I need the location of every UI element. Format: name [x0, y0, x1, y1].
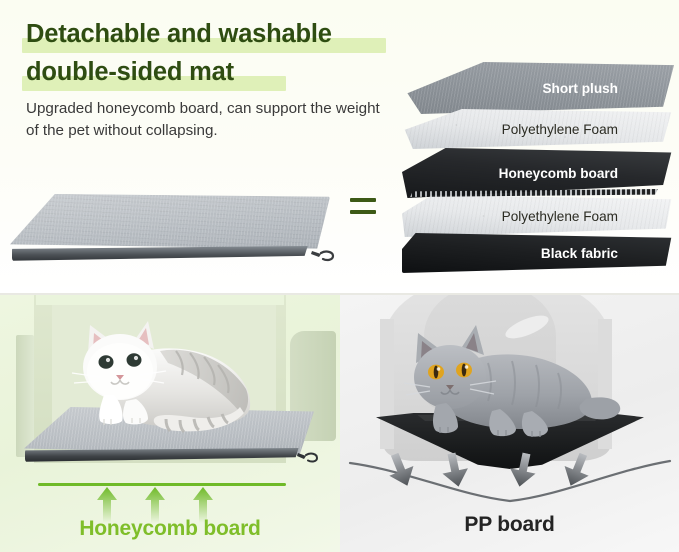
- layer-label: Honeycomb board: [499, 166, 674, 181]
- equals-bar-top: [350, 198, 376, 202]
- headline-line-2: double-sided mat: [26, 60, 234, 86]
- product-infographic: Detachable and washable double-sided mat…: [0, 0, 679, 552]
- panel-honeycomb-board: Honeycomb board: [0, 295, 340, 552]
- cat-on-honeycomb-mat: [56, 315, 286, 445]
- honeycomb-board-label: Honeycomb board: [0, 517, 340, 541]
- zipper-pull-icon: [296, 447, 320, 465]
- zipper-pull-icon: [310, 244, 336, 264]
- crate-top-edge: [36, 295, 284, 305]
- layer-label: Short plush: [542, 81, 674, 96]
- mat-edge: [25, 448, 307, 463]
- layer-polyethylene-foam-bottom: Polyethylene Foam: [402, 195, 674, 237]
- top-section: Detachable and washable double-sided mat…: [0, 0, 679, 293]
- layer-short-plush: Short plush: [402, 62, 674, 114]
- layer-label: Black fabric: [541, 246, 674, 261]
- equals-bar-bottom: [350, 210, 376, 214]
- layer-label: Polyethylene Foam: [502, 209, 674, 224]
- layer-polyethylene-foam-top: Polyethylene Foam: [402, 109, 674, 149]
- pp-board-label: PP board: [340, 513, 679, 537]
- cat-on-pp-board: [396, 319, 624, 447]
- mat-product-photo: [10, 194, 330, 272]
- layer-honeycomb-board: Honeycomb board: [402, 148, 674, 198]
- panel-pp-board: PP board: [340, 295, 679, 552]
- headline-line-1: Detachable and washable: [26, 22, 332, 48]
- material-layer-stack: Short plush Polyethylene Foam Honeycomb …: [402, 62, 674, 270]
- layer-label: Polyethylene Foam: [502, 122, 674, 137]
- layer-black-fabric: Black fabric: [402, 233, 674, 273]
- honeycomb-support-baseline: [38, 483, 286, 486]
- comparison-section: Honeycomb board: [0, 295, 679, 552]
- equals-sign: [350, 198, 376, 220]
- mat-edge: [12, 246, 320, 262]
- subtitle-text: Upgraded honeycomb board, can support th…: [26, 98, 386, 142]
